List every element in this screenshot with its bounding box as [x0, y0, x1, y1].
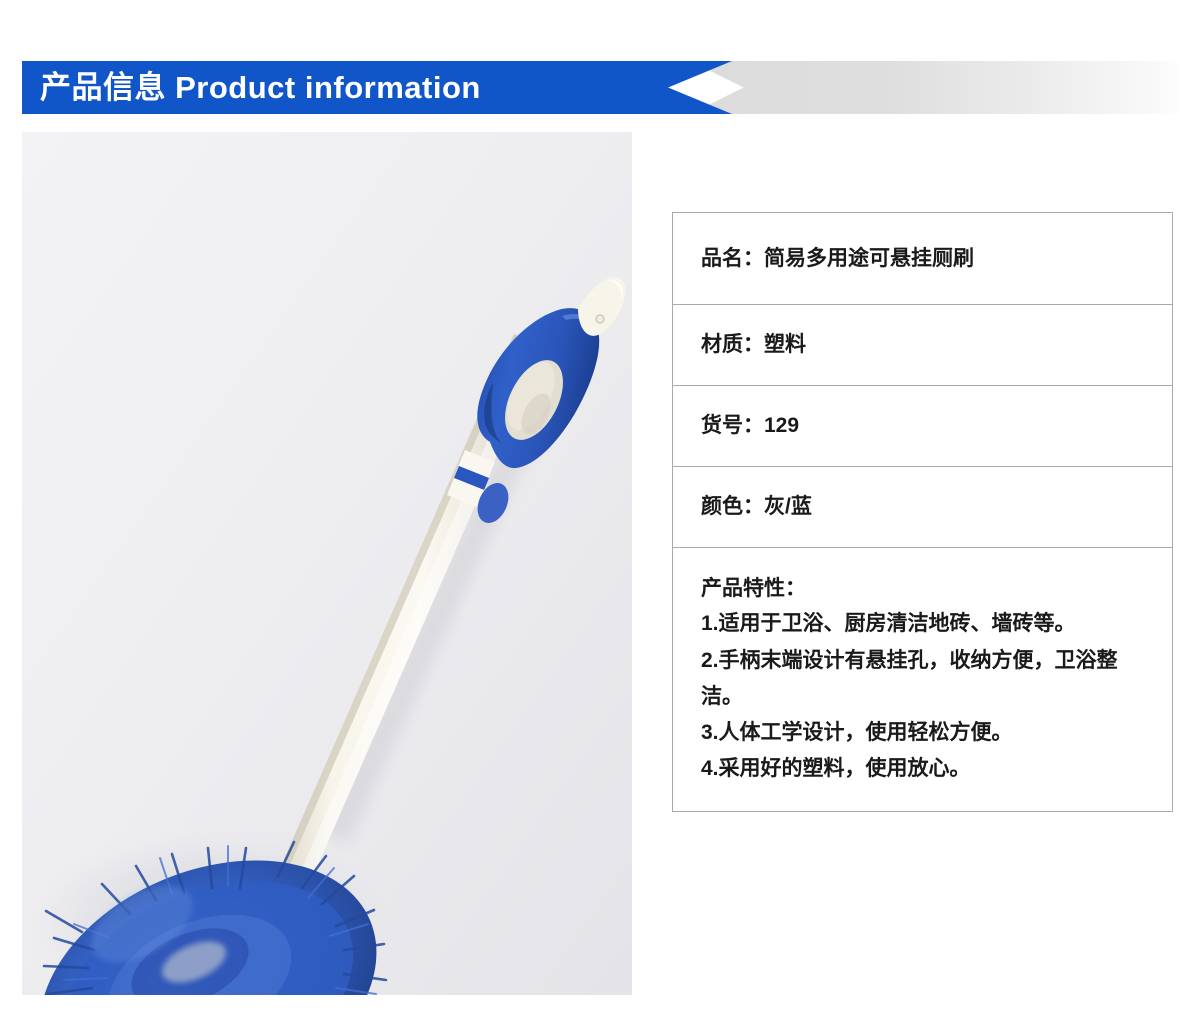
product-spec-table: 品名：简易多用途可悬挂厕刷 材质：塑料 货号：129 颜色：灰/蓝 产品特性： … — [672, 212, 1173, 812]
feature-item: 3.人体工学设计，使用轻松方便。 — [701, 715, 1146, 751]
page-title-cn: 产品信息 — [40, 70, 166, 105]
spec-row-material: 材质：塑料 — [673, 305, 1172, 386]
feature-item: 1.适用于卫浴、厨房清洁地砖、墙砖等。 — [701, 606, 1146, 642]
spec-item-number: 货号：129 — [701, 413, 799, 438]
toilet-brush-illustration — [22, 132, 632, 995]
spec-row-features: 产品特性： 1.适用于卫浴、厨房清洁地砖、墙砖等。 2.手柄末端设计有悬挂孔，收… — [673, 548, 1172, 812]
section-header-banner: 产品信息 Product information — [22, 61, 1178, 114]
page-title-en: Product information — [175, 70, 481, 105]
product-image — [22, 132, 632, 995]
spec-row-item-number: 货号：129 — [673, 386, 1172, 467]
banner-primary: 产品信息 Product information — [22, 61, 732, 114]
banner-ribbon-tail — [690, 61, 1178, 114]
page-title: 产品信息 Product information — [22, 72, 481, 103]
features-heading: 产品特性： — [701, 574, 1146, 604]
spec-color: 颜色：灰/蓝 — [701, 494, 812, 519]
spec-product-name: 品名：简易多用途可悬挂厕刷 — [701, 246, 974, 271]
feature-item: 2.手柄末端设计有悬挂孔，收纳方便，卫浴整洁。 — [701, 643, 1146, 715]
spec-row-product-name: 品名：简易多用途可悬挂厕刷 — [673, 213, 1172, 305]
feature-item: 4.采用好的塑料，使用放心。 — [701, 751, 1146, 787]
spec-row-color: 颜色：灰/蓝 — [673, 467, 1172, 548]
spec-material: 材质：塑料 — [701, 332, 806, 357]
